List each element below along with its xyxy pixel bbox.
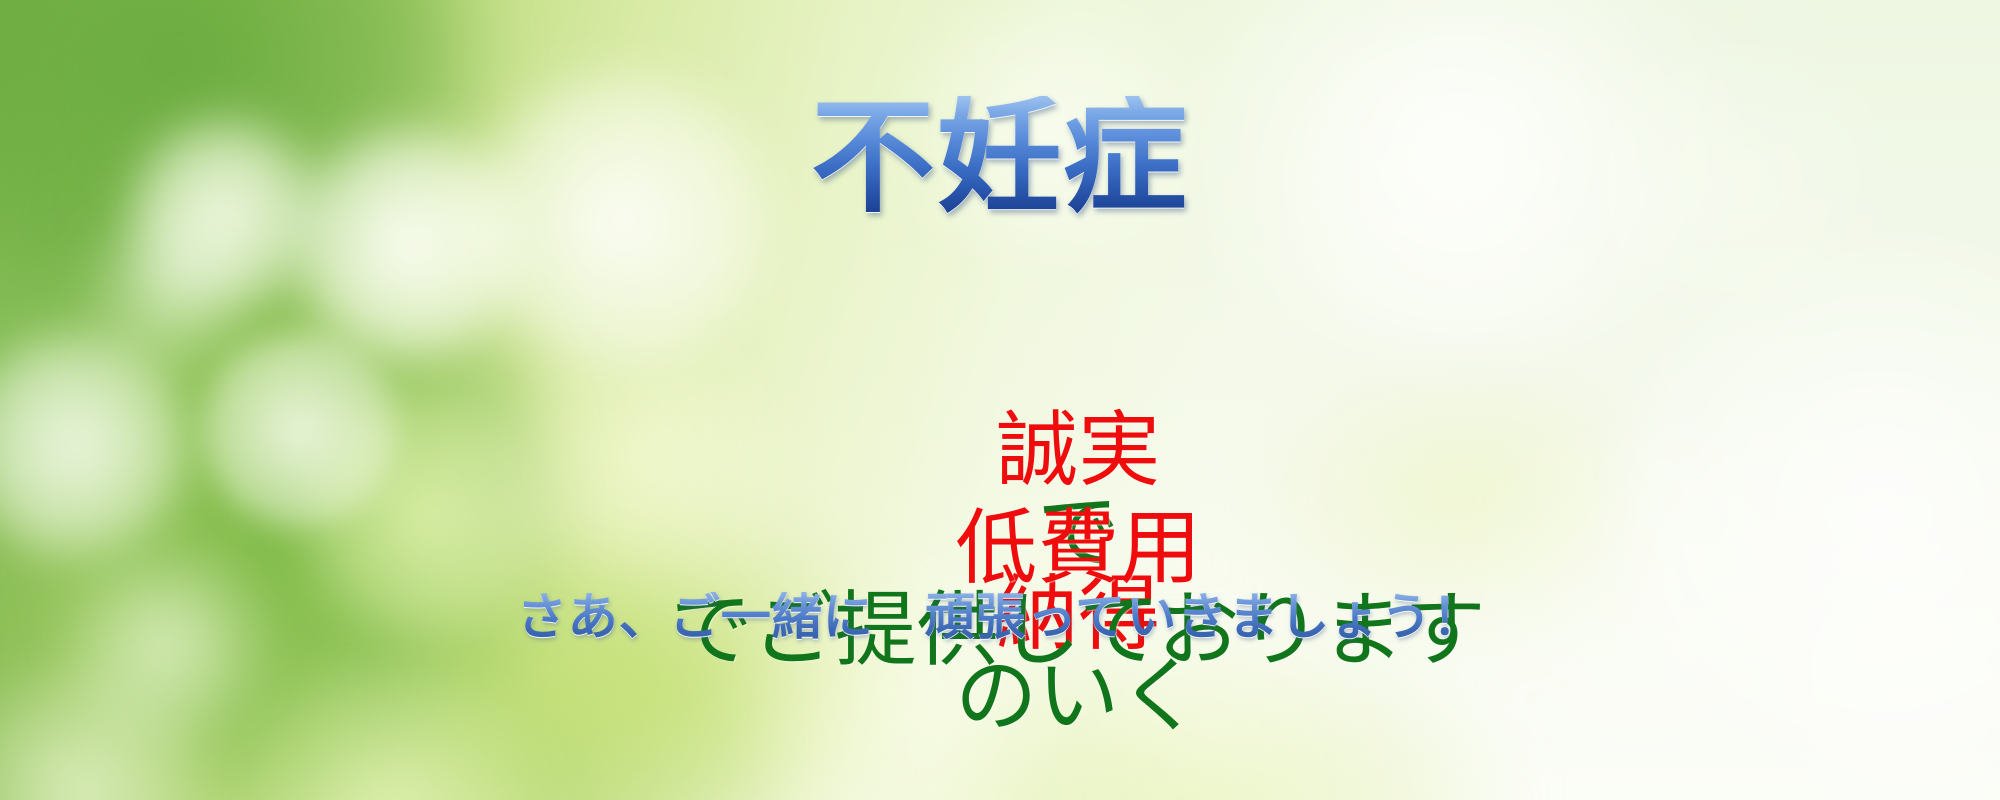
tagline: さあ、ご一緒に 頑張っていきましょう！ [0,592,2000,642]
banner-text-content: 不妊症 不妊症 誠実 で 納得 のいく 治療・成績 を 低費用 でご提供しており… [0,0,2000,800]
hero-banner: 不妊症 不妊症 誠実 で 納得 のいく 治療・成績 を 低費用 でご提供しており… [0,0,2000,800]
tagline-block: さあ、ご一緒に 頑張っていきましょう！ さあ、ご一緒に 頑張っていきましょう！ [0,0,2000,800]
